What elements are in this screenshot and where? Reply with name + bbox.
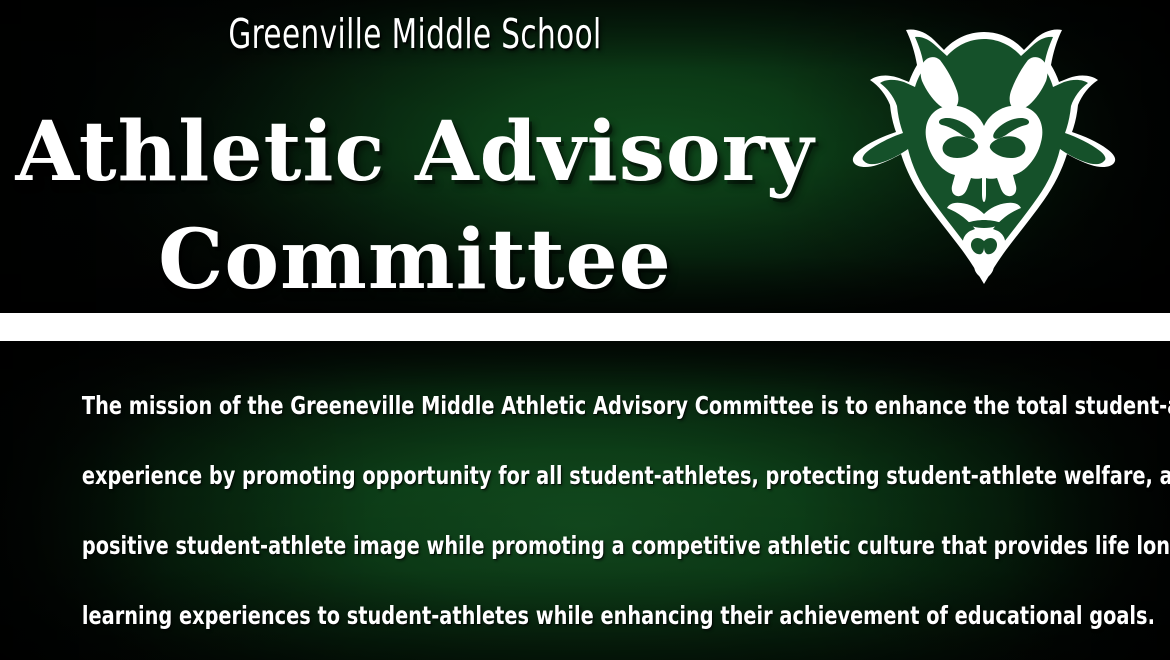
- mission-statement-text: The mission of the Greeneville Middle At…: [0, 371, 1170, 651]
- green-devil-mascot-icon: [848, 18, 1120, 306]
- page-title-line-2: Committee: [0, 206, 830, 313]
- mission-line-2: experience by promoting opportunity for …: [82, 441, 1088, 511]
- header-text-block: Greenville Middle School Athletic Adviso…: [0, 0, 830, 313]
- page-title-line-1: Athletic Advisory: [0, 98, 830, 206]
- mission-line-3: positive student-athlete image while pro…: [82, 511, 1088, 581]
- athletic-advisory-committee-banner-page: Greenville Middle School Athletic Adviso…: [0, 0, 1170, 660]
- page-title: Athletic Advisory Committee: [0, 98, 830, 313]
- mission-statement-panel: The mission of the Greeneville Middle At…: [0, 341, 1170, 660]
- mission-line-4: learning experiences to student-athletes…: [82, 581, 1088, 651]
- header-banner: Greenville Middle School Athletic Adviso…: [0, 0, 1170, 313]
- mission-line-1: The mission of the Greeneville Middle At…: [82, 371, 1088, 441]
- section-divider: [0, 313, 1170, 341]
- school-name: Greenville Middle School: [83, 10, 747, 58]
